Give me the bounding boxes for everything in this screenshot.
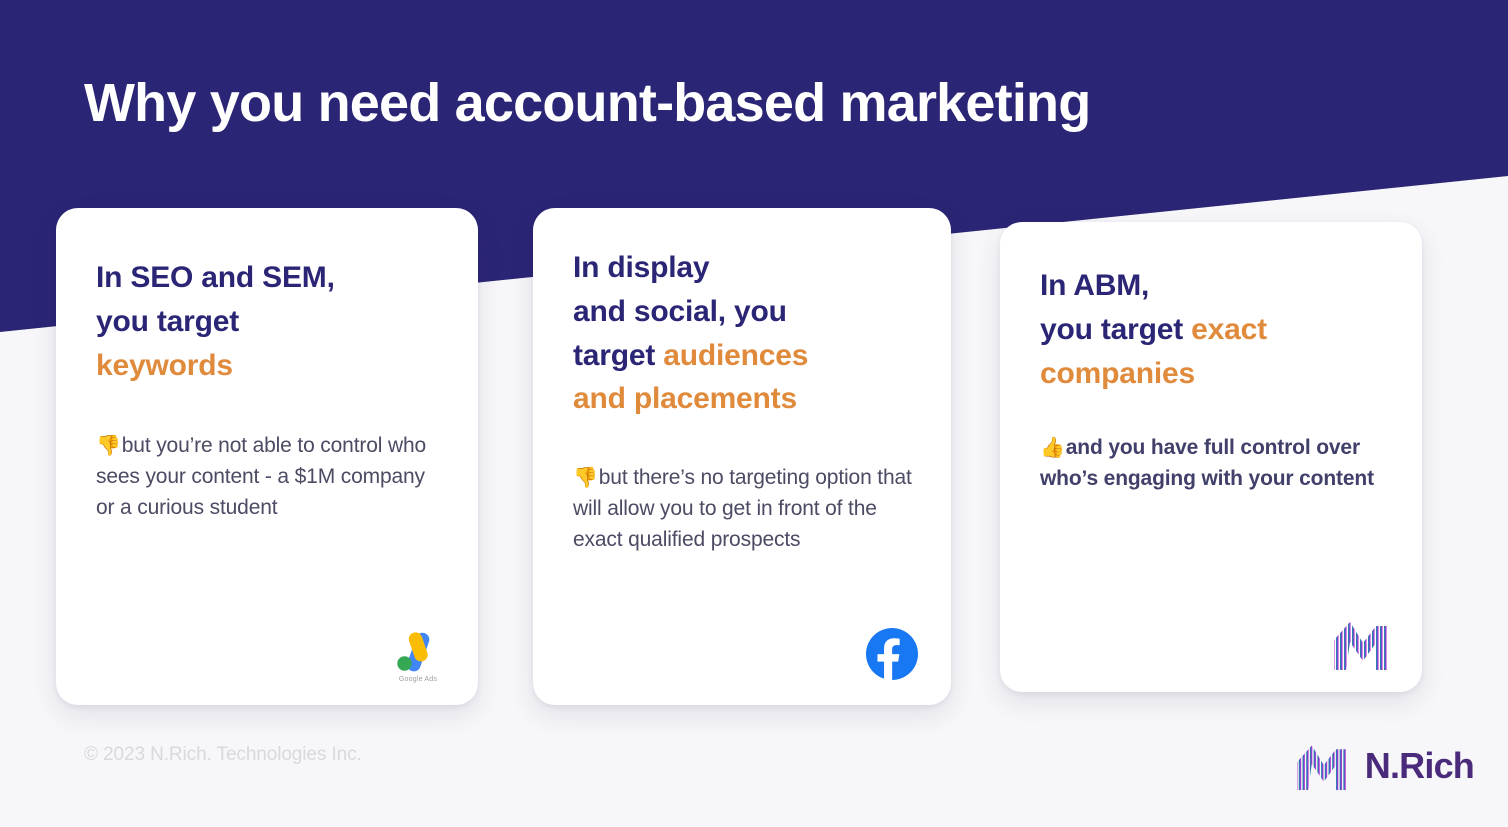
card-heading: In SEO and SEM, you target keywords <box>96 256 440 387</box>
card-heading-line-2: and social, you <box>573 295 787 328</box>
copyright-text: © 2023 N.Rich. Technologies Inc. <box>84 744 362 766</box>
card-heading-accent-2: and placements <box>573 382 797 415</box>
card-heading-accent: keywords <box>96 349 233 382</box>
thumbs-up-emoji: 👍 <box>1040 437 1065 459</box>
card-body: 👎but there’s no targeting option that wi… <box>573 463 913 555</box>
card-body-text: but there’s no targeting option that wil… <box>573 466 912 550</box>
brand-wordmark: N.Rich <box>1365 745 1474 787</box>
thumbs-down-emoji: 👎 <box>96 435 121 457</box>
google-ads-caption: Google Ads <box>399 676 437 683</box>
card-heading-line-1: In ABM, <box>1040 269 1149 302</box>
card-heading-line-1: In SEO and SEM, <box>96 261 335 294</box>
card-body-text: but you’re not able to control who sees … <box>96 434 426 518</box>
card-body: 👎but you’re not able to control who sees… <box>96 431 440 523</box>
card-heading-line-2: you target <box>96 305 239 338</box>
slide-canvas: Why you need account-based marketing In … <box>0 0 1508 827</box>
card-heading-accent: exact <box>1191 313 1267 346</box>
facebook-icon <box>865 627 919 681</box>
brand-footer: N.Rich <box>1293 740 1474 792</box>
card-heading: In ABM, you target exact companies <box>1040 264 1384 395</box>
card-heading-accent: audiences <box>663 339 808 372</box>
card-heading-accent-2: companies <box>1040 357 1195 390</box>
card-seo-sem[interactable]: In SEO and SEM, you target keywords 👎but… <box>56 208 478 705</box>
nrich-mark <box>1330 616 1392 672</box>
page-title: Why you need account-based marketing <box>84 74 1090 133</box>
card-heading-line-3: target <box>573 339 663 372</box>
facebook-logo <box>865 627 919 681</box>
google-ads-icon <box>392 628 444 674</box>
card-display-social[interactable]: In display and social, you target audien… <box>533 208 951 705</box>
card-heading-line-1: In display <box>573 251 709 284</box>
card-body-text: and you have full control over who’s eng… <box>1040 436 1374 490</box>
nrich-logo-mark-icon <box>1293 740 1351 792</box>
thumbs-down-emoji: 👎 <box>573 467 598 489</box>
card-heading: In display and social, you target audien… <box>573 246 913 421</box>
card-heading-line-2: you target <box>1040 313 1191 346</box>
nrich-logo-mark-icon <box>1330 616 1392 672</box>
card-body: 👍and you have full control over who’s en… <box>1040 433 1384 494</box>
card-abm[interactable]: In ABM, you target exact companies 👍and … <box>1000 222 1422 692</box>
google-ads-logo: Google Ads <box>392 628 444 683</box>
